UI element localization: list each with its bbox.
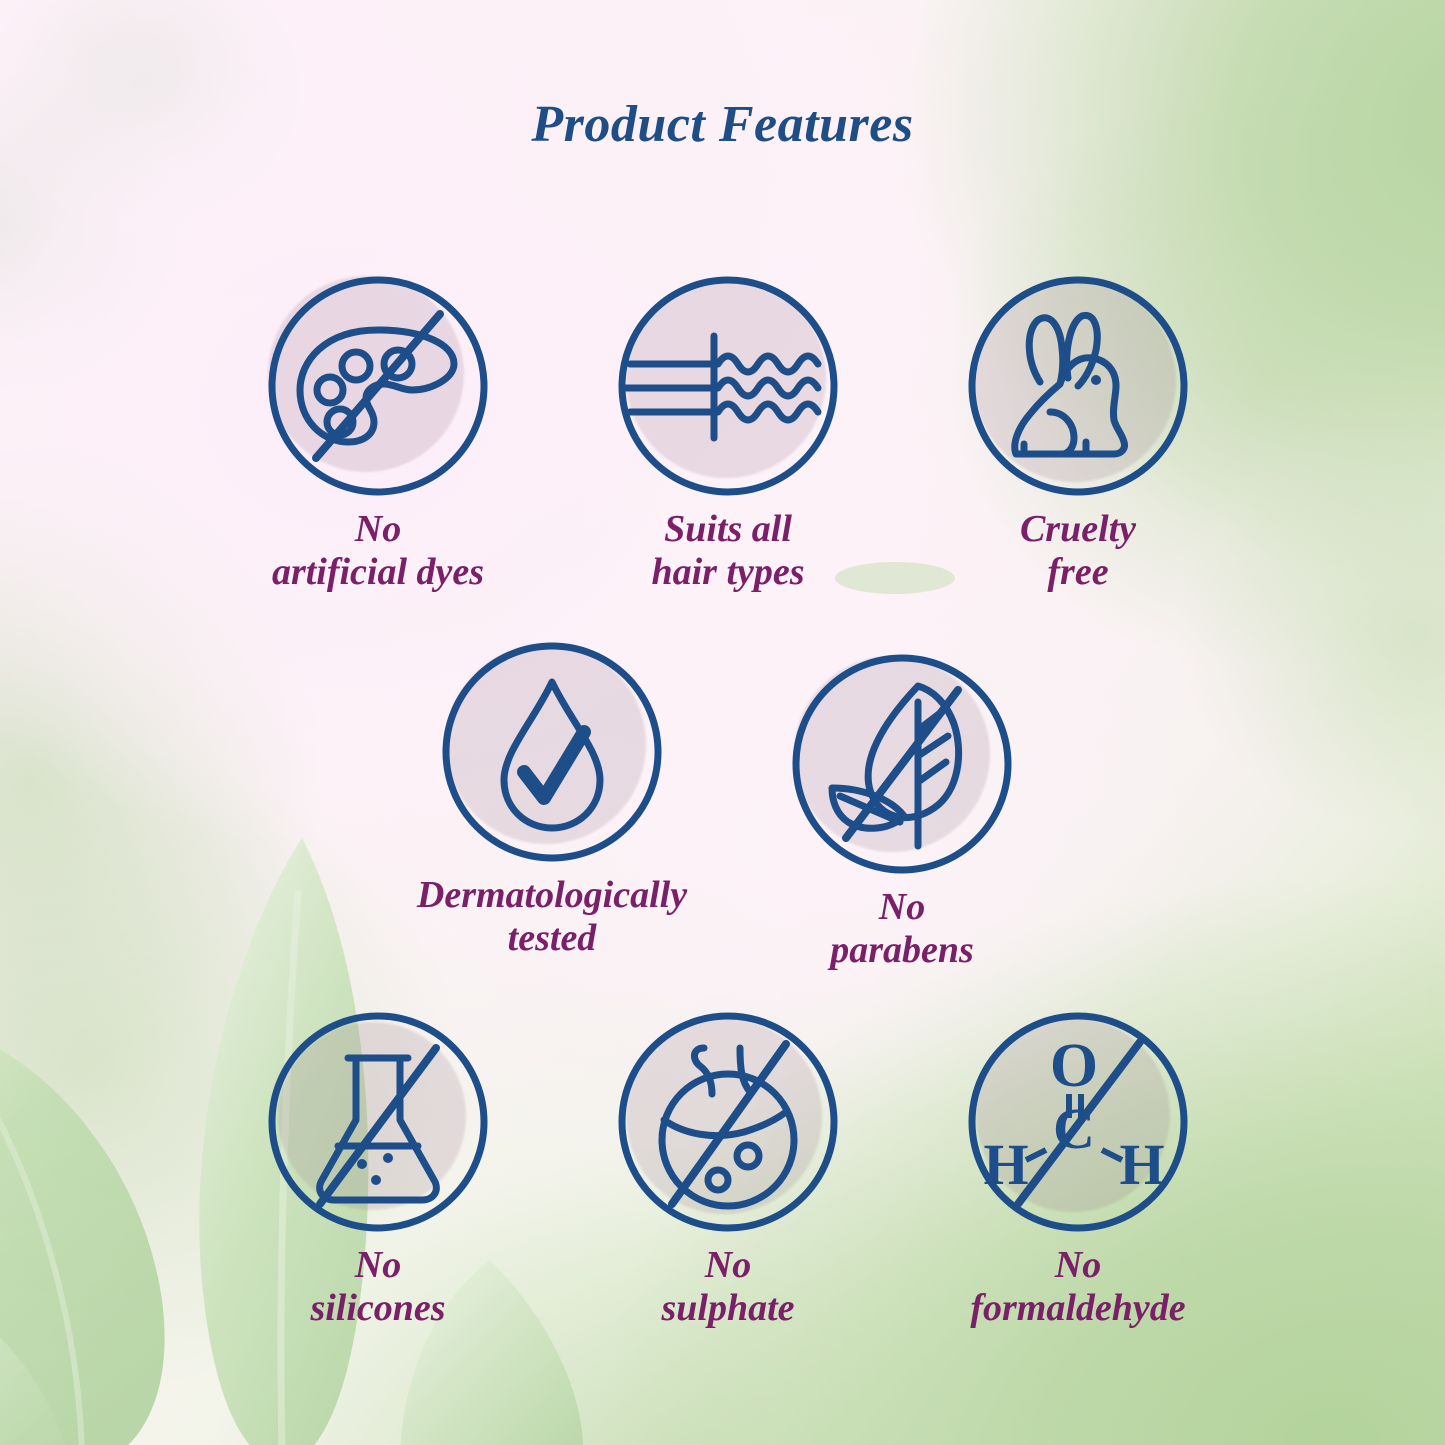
badge-no-artificial-dyes [264, 272, 492, 500]
page-title: Product Features [0, 95, 1445, 154]
droplet-check-icon [438, 638, 666, 866]
feature-label: Cruelty free [864, 508, 1292, 593]
feature-no-parabens: No parabens [688, 650, 1116, 971]
hair-types-icon [614, 272, 842, 500]
badge-no-sulphate [614, 1008, 842, 1236]
feature-label: No parabens [688, 886, 1116, 971]
formaldehyde-molecule-crossed-icon: O C H H [964, 1008, 1192, 1236]
atom-label-hydrogen-left: H [983, 1132, 1028, 1197]
erlenmeyer-flask-crossed-icon [264, 1008, 492, 1236]
badge-no-silicones [264, 1008, 492, 1236]
rabbit-icon [964, 272, 1192, 500]
atom-label-oxygen: O [1050, 1032, 1098, 1100]
round-flask-crossed-icon [614, 1008, 842, 1236]
feature-cruelty-free: Cruelty free [864, 272, 1292, 593]
badge-no-formaldehyde: O C H H [964, 1008, 1192, 1236]
badge-no-parabens [788, 650, 1016, 878]
badge-dermatologically-tested [438, 638, 666, 866]
leaf-crossed-icon [788, 650, 1016, 878]
feature-label: No formaldehyde [864, 1244, 1292, 1329]
product-features-infographic: Product Features [0, 0, 1445, 1445]
badge-suits-all-hair-types [614, 272, 842, 500]
atom-label-hydrogen-right: H [1119, 1132, 1164, 1197]
feature-no-formaldehyde: O C H H No formaldehyde [864, 1008, 1292, 1329]
palette-crossed-icon [264, 272, 492, 500]
badge-cruelty-free [964, 272, 1192, 500]
